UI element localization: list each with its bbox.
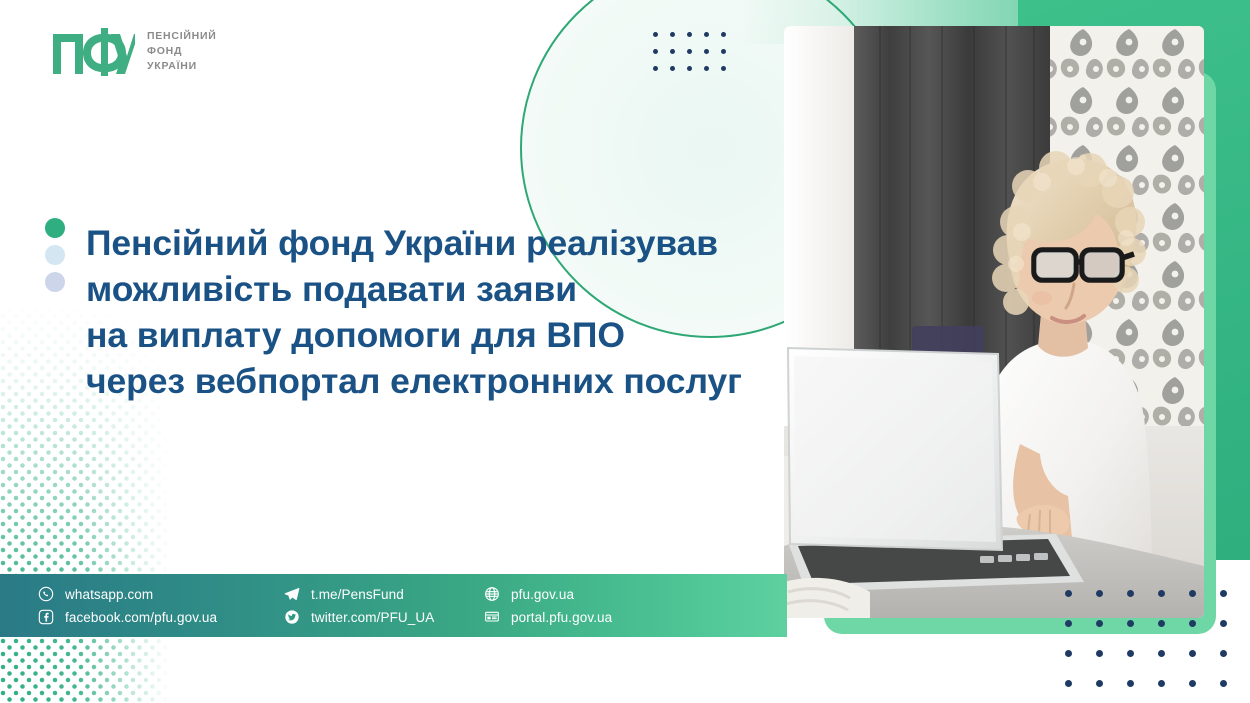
- bullet-lavender: [45, 272, 65, 292]
- footer-link-label: facebook.com/pfu.gov.ua: [65, 610, 217, 625]
- facebook-icon: [38, 609, 54, 625]
- twitter-icon: [284, 609, 300, 625]
- footer-link-whatsapp[interactable]: whatsapp.com: [38, 586, 284, 602]
- tagline-line-3: УКРАЇНИ: [147, 60, 217, 74]
- footer-link-facebook[interactable]: facebook.com/pfu.gov.ua: [38, 609, 284, 625]
- footer-link-twitter[interactable]: twitter.com/PFU_UA: [284, 609, 484, 625]
- footer-link-telegram[interactable]: t.me/PensFund: [284, 586, 484, 602]
- pfu-logo-icon: [53, 28, 135, 76]
- footer-link-label: twitter.com/PFU_UA: [311, 610, 434, 625]
- footer-column-2: t.me/PensFund twitter.com/PFU_UA: [284, 586, 484, 625]
- tagline-line-2: ФОНД: [147, 45, 217, 59]
- footer-link-portal[interactable]: portal.pfu.gov.ua: [484, 609, 684, 625]
- page-title: Пенсійний фонд України реалізував можлив…: [86, 220, 786, 404]
- bullet-light-blue: [45, 245, 65, 265]
- whatsapp-icon: [38, 586, 54, 602]
- footer-link-label: portal.pfu.gov.ua: [511, 610, 612, 625]
- headline-bullets: [45, 218, 65, 292]
- tagline-line-1: ПЕНСІЙНИЙ: [147, 30, 217, 44]
- footer-contact-bar: whatsapp.com facebook.com/pfu.gov.ua: [0, 574, 787, 637]
- headline-line-2: можливість подавати заяви: [86, 266, 786, 312]
- portal-icon: [484, 609, 500, 625]
- bottom-right-dot-grid-decor: [1065, 590, 1250, 703]
- headline-line-4: через вебпортал електронних послуг: [86, 358, 786, 404]
- headline-line-1: Пенсійний фонд України реалізував: [86, 220, 786, 266]
- top-dot-grid-decor: [653, 32, 738, 83]
- telegram-icon: [284, 586, 300, 602]
- hero-photo: [784, 26, 1204, 618]
- footer-column-1: whatsapp.com facebook.com/pfu.gov.ua: [38, 586, 284, 625]
- bullet-green: [45, 218, 65, 238]
- footer-column-3: pfu.gov.ua portal.pfu.gov.ua: [484, 586, 684, 625]
- footer-link-label: t.me/PensFund: [311, 587, 404, 602]
- headline-line-3: на виплату допомоги для ВПО: [86, 312, 786, 358]
- globe-icon: [484, 586, 500, 602]
- footer-link-label: whatsapp.com: [65, 587, 153, 602]
- footer-link-website[interactable]: pfu.gov.ua: [484, 586, 684, 602]
- pfu-logo[interactable]: ПЕНСІЙНИЙ ФОНД УКРАЇНИ: [53, 28, 217, 76]
- footer-link-label: pfu.gov.ua: [511, 587, 574, 602]
- woman-with-laptop-illustration: [784, 26, 1204, 618]
- pfu-logo-tagline: ПЕНСІЙНИЙ ФОНД УКРАЇНИ: [147, 30, 217, 74]
